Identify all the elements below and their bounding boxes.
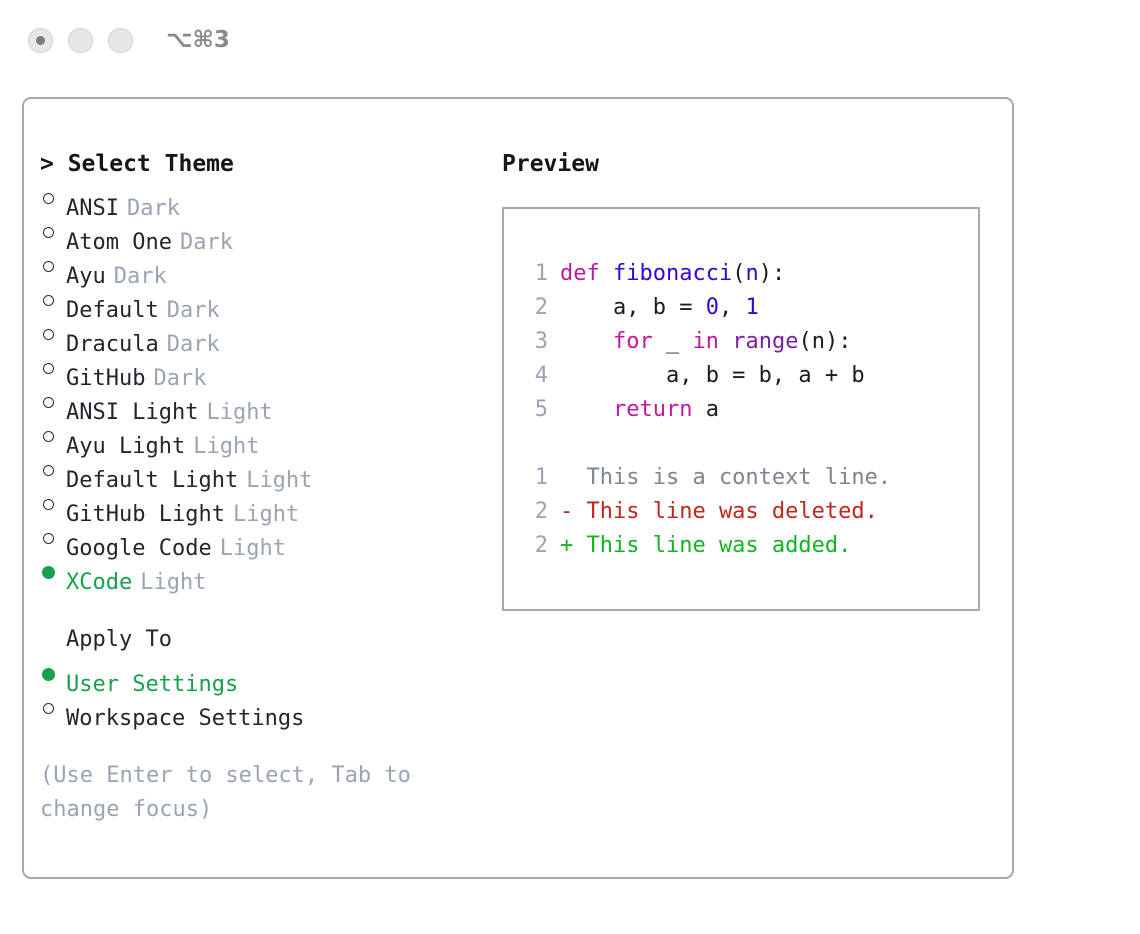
radio-unselected-icon xyxy=(40,351,66,385)
code-line: 5 return a xyxy=(522,393,978,427)
radio-glyph xyxy=(43,499,54,510)
code-line: 4 a, b = b, a + b xyxy=(522,359,978,393)
radio-unselected-icon xyxy=(40,419,66,453)
preview-column: Preview 1def fibonacci(n):2 a, b = 0, 13… xyxy=(502,147,1002,611)
code-token: ( xyxy=(732,261,745,286)
code-line: 2 a, b = 0, 1 xyxy=(522,291,978,325)
radio-glyph xyxy=(42,566,55,579)
radio-glyph xyxy=(43,703,54,714)
code-line-content: a, b = b, a + b xyxy=(560,359,865,393)
traffic-light-active-icon[interactable] xyxy=(28,28,53,53)
radio-glyph xyxy=(43,363,54,374)
line-number: 2 xyxy=(522,495,548,529)
code-token: _ xyxy=(653,329,693,354)
diff-line-del: 2- This line was deleted. xyxy=(522,495,978,529)
radio-unselected-icon xyxy=(40,215,66,249)
theme-variant-tag: Dark xyxy=(167,294,220,328)
theme-variant-tag: Dark xyxy=(114,260,167,294)
radio-glyph xyxy=(43,261,54,272)
radio-glyph xyxy=(43,465,54,476)
theme-variant-tag: Light xyxy=(246,464,312,498)
line-number: 3 xyxy=(522,325,548,359)
theme-variant-tag: Dark xyxy=(167,328,220,362)
code-token: a, b = xyxy=(560,295,706,320)
code-token xyxy=(560,397,613,422)
radio-glyph xyxy=(43,397,54,408)
app-root: ⌥⌘3 > Select Theme ANSIDarkAtom OneDarkA… xyxy=(0,0,1140,934)
theme-variant-tag: Light xyxy=(233,498,299,532)
radio-selected-icon xyxy=(40,555,66,589)
radio-unselected-icon xyxy=(40,453,66,487)
code-diff-separator xyxy=(522,427,978,461)
code-line-content: a, b = 0, 1 xyxy=(560,291,759,325)
theme-name: Default xyxy=(66,294,159,328)
apply-to-label: Workspace Settings xyxy=(66,702,304,736)
window-chrome: ⌥⌘3 xyxy=(28,24,230,56)
theme-name: Google Code xyxy=(66,532,212,566)
code-token: 1 xyxy=(745,295,758,320)
apply-to-option-user-settings[interactable]: User Settings xyxy=(40,657,500,691)
theme-variant-tag: Light xyxy=(193,430,259,464)
keyboard-hint-text: (Use Enter to select, Tab to change focu… xyxy=(40,759,450,827)
radio-unselected-icon xyxy=(40,691,66,725)
radio-unselected-icon xyxy=(40,487,66,521)
radio-glyph xyxy=(43,329,54,340)
theme-option-default[interactable]: DefaultDark xyxy=(40,283,500,317)
active-indicator-dot xyxy=(36,36,45,45)
radio-glyph xyxy=(43,533,54,544)
code-line-content: return a xyxy=(560,393,719,427)
diff-line-ctx: 1 This is a context line. xyxy=(522,461,978,495)
keyboard-shortcut-label: ⌥⌘3 xyxy=(166,27,230,53)
line-number: 5 xyxy=(522,393,548,427)
radio-unselected-icon xyxy=(40,283,66,317)
radio-unselected-icon xyxy=(40,249,66,283)
radio-unselected-icon xyxy=(40,181,66,215)
line-number: 2 xyxy=(522,291,548,325)
code-token: in xyxy=(692,329,719,354)
select-theme-title: > Select Theme xyxy=(40,147,500,181)
theme-name: Dracula xyxy=(66,328,159,362)
radio-unselected-icon xyxy=(40,317,66,351)
theme-name: Atom One xyxy=(66,226,172,260)
theme-variant-tag: Dark xyxy=(153,362,206,396)
radio-glyph xyxy=(42,668,55,681)
theme-selector-column: > Select Theme ANSIDarkAtom OneDarkAyuDa… xyxy=(40,147,500,827)
diff-line-add: 2+ This line was added. xyxy=(522,529,978,563)
apply-to-list: User SettingsWorkspace Settings xyxy=(40,657,500,725)
theme-variant-tag: Light xyxy=(206,396,272,430)
code-token: 0 xyxy=(706,295,719,320)
line-number: 2 xyxy=(522,529,548,563)
code-token xyxy=(560,329,613,354)
radio-unselected-icon xyxy=(40,385,66,419)
preview-title: Preview xyxy=(502,147,1002,181)
theme-option-ansi[interactable]: ANSIDark xyxy=(40,181,500,215)
apply-to-label: User Settings xyxy=(66,668,238,702)
theme-variant-tag: Dark xyxy=(180,226,233,260)
radio-glyph xyxy=(43,431,54,442)
theme-name: XCode xyxy=(66,566,132,600)
radio-selected-icon xyxy=(40,657,66,691)
theme-name: GitHub Light xyxy=(66,498,225,532)
theme-name: Default Light xyxy=(66,464,238,498)
theme-variant-tag: Dark xyxy=(127,192,180,226)
line-number: 1 xyxy=(522,257,548,291)
radio-glyph xyxy=(43,227,54,238)
code-token: def xyxy=(560,261,613,286)
code-token: ): xyxy=(759,261,786,286)
theme-name: ANSI Light xyxy=(66,396,198,430)
traffic-light-2-icon[interactable] xyxy=(68,28,93,53)
theme-name: Ayu xyxy=(66,260,106,294)
diff-block: 1 This is a context line.2- This line wa… xyxy=(522,461,978,563)
code-token: a, b = b, a + b xyxy=(560,363,865,388)
theme-list: ANSIDarkAtom OneDarkAyuDarkDefaultDarkDr… xyxy=(40,181,500,589)
code-line: 3 for _ in range(n): xyxy=(522,325,978,359)
code-block: 1def fibonacci(n):2 a, b = 0, 13 for _ i… xyxy=(522,257,978,427)
code-token: a xyxy=(692,397,719,422)
radio-unselected-icon xyxy=(40,521,66,555)
apply-to-title: Apply To xyxy=(40,623,500,657)
code-token xyxy=(719,329,732,354)
code-token: (n): xyxy=(798,329,851,354)
theme-name: ANSI xyxy=(66,192,119,226)
code-preview-box: 1def fibonacci(n):2 a, b = 0, 13 for _ i… xyxy=(502,207,980,611)
theme-name: GitHub xyxy=(66,362,145,396)
theme-name: Ayu Light xyxy=(66,430,185,464)
diff-line-content: + This line was added. xyxy=(560,529,851,563)
radio-glyph xyxy=(43,295,54,306)
code-token: return xyxy=(613,397,692,422)
code-line-content: for _ in range(n): xyxy=(560,325,851,359)
main-panel: > Select Theme ANSIDarkAtom OneDarkAyuDa… xyxy=(22,97,1014,879)
code-token: fibonacci xyxy=(613,261,732,286)
diff-line-content: This is a context line. xyxy=(560,461,891,495)
code-token: range xyxy=(732,329,798,354)
line-number: 4 xyxy=(522,359,548,393)
code-line: 1def fibonacci(n): xyxy=(522,257,978,291)
code-token: , xyxy=(719,295,746,320)
traffic-light-3-icon[interactable] xyxy=(108,28,133,53)
line-number: 1 xyxy=(522,461,548,495)
code-token: n xyxy=(745,261,758,286)
code-token: for xyxy=(613,329,653,354)
theme-variant-tag: Light xyxy=(140,566,206,600)
theme-variant-tag: Light xyxy=(220,532,286,566)
diff-line-content: - This line was deleted. xyxy=(560,495,878,529)
code-line-content: def fibonacci(n): xyxy=(560,257,785,291)
radio-glyph xyxy=(43,193,54,204)
